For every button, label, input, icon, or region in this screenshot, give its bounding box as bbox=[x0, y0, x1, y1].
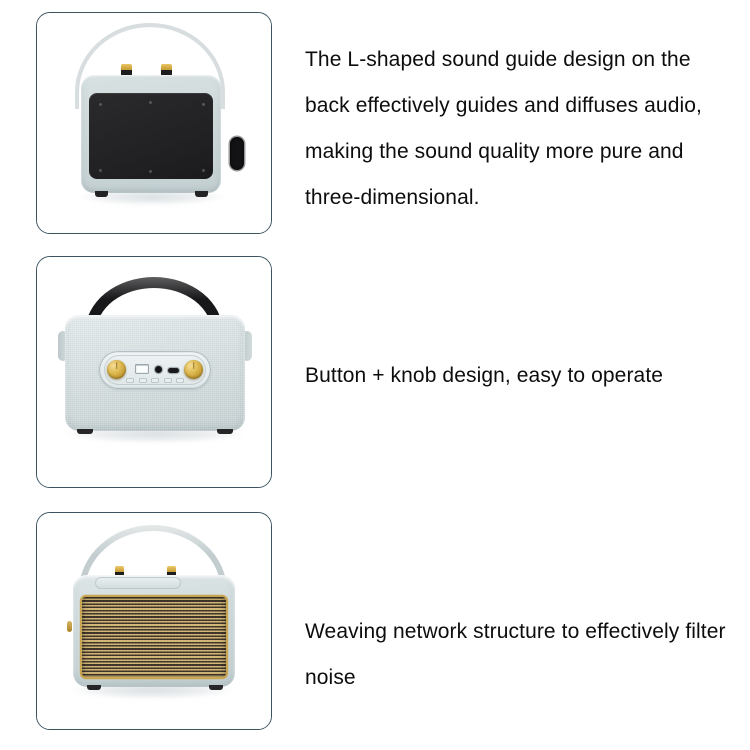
feature-description-3: Weaving network structure to effectively… bbox=[305, 609, 735, 701]
panel-screw bbox=[149, 101, 152, 104]
woven-mesh-grille bbox=[82, 597, 226, 677]
usb-a-port-icon bbox=[135, 364, 149, 374]
panel-screw bbox=[99, 169, 102, 172]
bass-knob[interactable] bbox=[184, 360, 203, 379]
product-photo-frame-front-view bbox=[36, 512, 272, 730]
speaker-foot-left bbox=[95, 191, 108, 197]
control-button[interactable] bbox=[164, 378, 172, 383]
speaker-foot-right bbox=[217, 429, 233, 434]
feature-description-2: Button + knob design, easy to operate bbox=[305, 353, 735, 399]
photo-stage bbox=[37, 13, 271, 233]
control-button[interactable] bbox=[176, 378, 184, 383]
bass-port bbox=[230, 137, 244, 170]
control-button-row[interactable] bbox=[126, 378, 184, 383]
panel-screw bbox=[99, 103, 102, 106]
l-shaped-sound-guide-panel bbox=[89, 93, 213, 179]
photo-stage bbox=[37, 257, 271, 487]
panel-screw bbox=[202, 103, 205, 106]
product-photo-frame-control-panel-view bbox=[36, 256, 272, 488]
product-feature-page: The L-shaped sound guide design on the b… bbox=[0, 0, 750, 750]
speaker-foot-left bbox=[77, 429, 93, 434]
speaker-foot-left bbox=[87, 685, 101, 690]
side-bolt bbox=[67, 621, 72, 632]
panel-screw bbox=[202, 169, 205, 172]
speaker-top-plate bbox=[95, 577, 181, 589]
product-photo-frame-back-view bbox=[36, 12, 272, 234]
control-button[interactable] bbox=[151, 378, 159, 383]
feature-description-1: The L-shaped sound guide design on the b… bbox=[305, 37, 735, 221]
volume-knob[interactable] bbox=[107, 360, 126, 379]
usb-c-port-icon bbox=[168, 368, 179, 373]
speaker-foot-right bbox=[195, 191, 208, 197]
aux-jack-icon bbox=[155, 366, 162, 373]
control-button[interactable] bbox=[126, 378, 134, 383]
control-panel bbox=[99, 351, 211, 389]
panel-screw bbox=[149, 170, 152, 173]
control-button[interactable] bbox=[139, 378, 147, 383]
speaker-foot-right bbox=[209, 685, 223, 690]
photo-stage bbox=[37, 513, 271, 729]
